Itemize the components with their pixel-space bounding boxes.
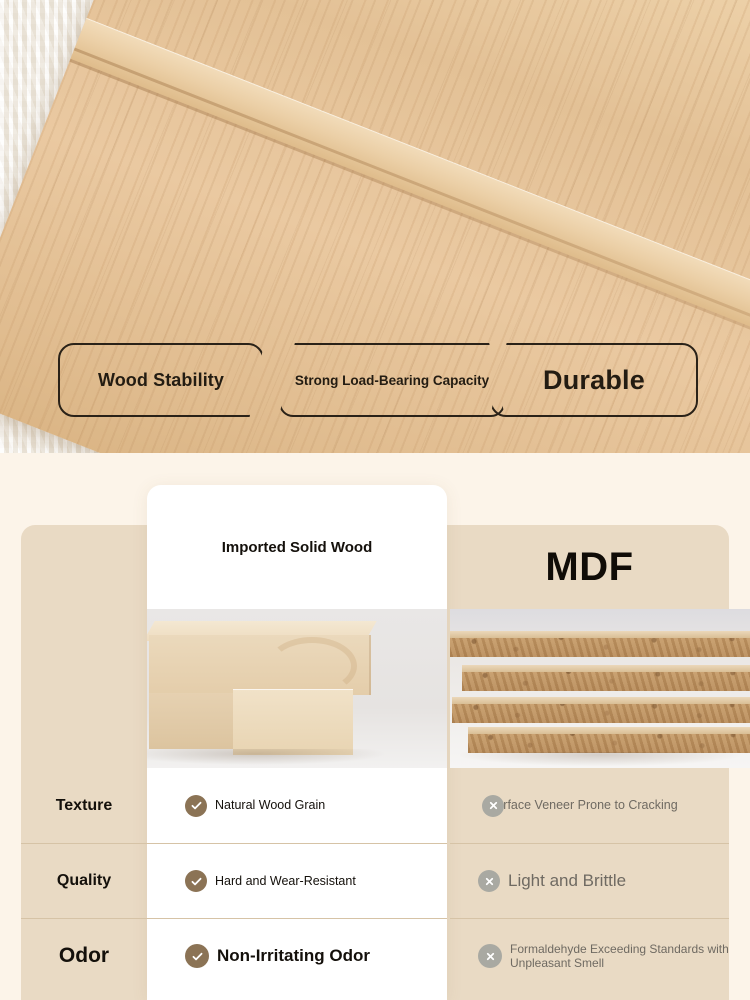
row-mdf-cell: Light and Brittle (450, 843, 729, 918)
cell-value: Hard and Wear-Resistant (215, 874, 356, 889)
row-solid-wood-cell: Hard and Wear-Resistant (147, 843, 447, 918)
feature-badge-group: Wood Stability Strong Load-Bearing Capac… (58, 343, 698, 417)
comparison-header-row: Imported Solid Wood MDF (0, 453, 750, 577)
row-attribute-cell: Texture (21, 768, 147, 843)
column-header-solid-wood: Imported Solid Wood (147, 485, 447, 609)
badge-label: Durable (543, 365, 645, 396)
mdf-board-layer (450, 631, 750, 657)
column-header-label: MDF (545, 545, 633, 590)
row-attribute-cell: Odor (21, 918, 147, 993)
row-mdf-cell: Formaldehyde Exceeding Standards with Un… (450, 918, 729, 993)
row-mdf-cell: Surface Veneer Prone to Cracking (450, 768, 729, 843)
badge-durable[interactable]: Durable (490, 343, 698, 417)
attribute-label: Texture (56, 797, 113, 815)
column-header-label: Imported Solid Wood (222, 539, 373, 556)
mdf-board-layer (452, 697, 750, 723)
badge-label: Wood Stability (98, 370, 224, 391)
row-solid-wood-cell: Non-Irritating Odor (147, 918, 447, 993)
check-icon (185, 795, 207, 817)
cell-value: Formaldehyde Exceeding Standards with Un… (510, 942, 729, 970)
comparison-rows: Texture Natural Wood Grain Surface Venee… (0, 768, 750, 993)
cell-value: Surface Veneer Prone to Cracking (488, 798, 678, 813)
hero-section: Wood Stability Strong Load-Bearing Capac… (0, 0, 750, 453)
check-icon (185, 870, 207, 892)
mdf-photo (450, 609, 750, 768)
cross-icon (482, 795, 504, 817)
check-icon (185, 944, 209, 968)
cell-value: Light and Brittle (508, 871, 626, 891)
wood-block-front-face (233, 689, 353, 755)
badge-load-bearing[interactable]: Strong Load-Bearing Capacity (279, 343, 505, 417)
mdf-board-layer (462, 665, 750, 691)
mdf-board-layer (468, 727, 750, 753)
cell-value: Natural Wood Grain (215, 798, 325, 813)
cross-icon (478, 944, 502, 968)
comparison-section: Imported Solid Wood MDF (0, 453, 750, 1000)
row-solid-wood-cell: Natural Wood Grain (147, 768, 447, 843)
table-row: Quality Hard and Wear-Resistant Light an… (0, 843, 750, 918)
wood-block-shadow (147, 749, 387, 765)
cross-icon (478, 870, 500, 892)
row-attribute-cell: Quality (21, 843, 147, 918)
mdf-shadow (460, 752, 740, 766)
product-detail-page: Wood Stability Strong Load-Bearing Capac… (0, 0, 750, 1000)
table-row: Texture Natural Wood Grain Surface Venee… (0, 768, 750, 843)
table-row: Odor Non-Irritating Odor Formaldehyde Ex… (0, 918, 750, 993)
cell-value: Non-Irritating Odor (217, 946, 370, 966)
attribute-label: Quality (57, 872, 111, 890)
attribute-label: Odor (59, 944, 109, 968)
comparison-image-row (0, 609, 750, 768)
badge-label: Strong Load-Bearing Capacity (295, 373, 489, 388)
badge-wood-stability[interactable]: Wood Stability (58, 343, 264, 417)
column-header-mdf: MDF (450, 525, 729, 609)
solid-wood-photo (147, 609, 447, 768)
wood-grain-ring (267, 637, 357, 695)
